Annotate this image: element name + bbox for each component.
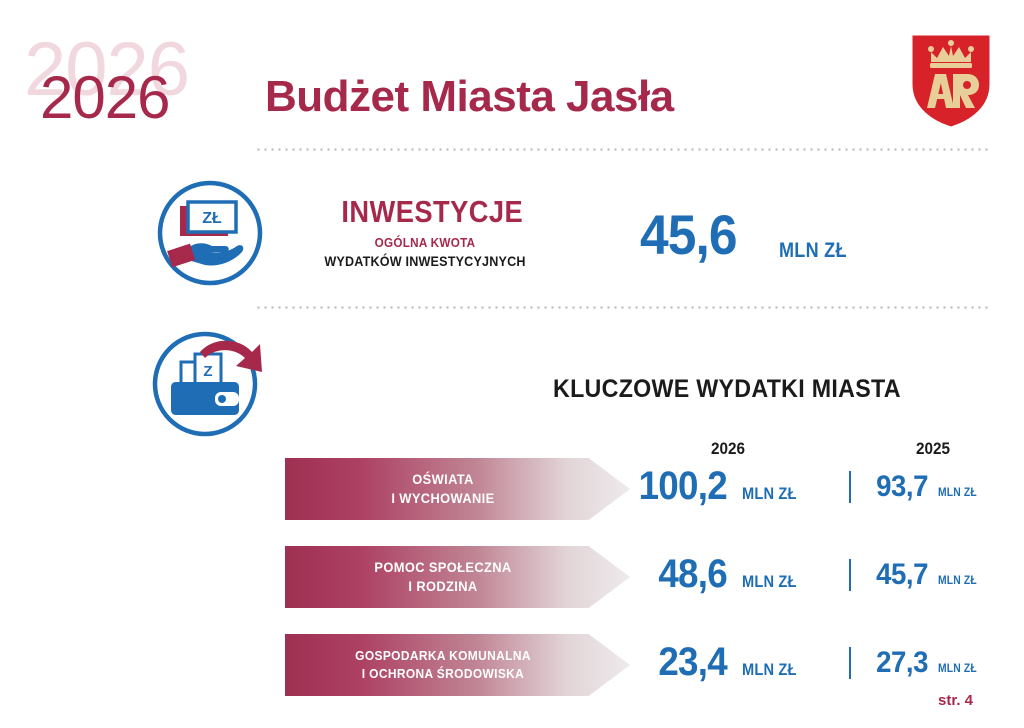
column-header-current-year: 2026 [711,440,745,457]
header-year: 2026 [40,68,169,128]
investments-heading: INWESTYCJE [341,196,508,227]
expense-category-label-line1: OŚWIATA [412,471,473,487]
key-expenses-heading: KLUCZOWE WYDATKI MIASTA [553,377,901,402]
divider-top [255,148,990,151]
expense-category-label: POMOC SPOŁECZNA I RODZINA [305,558,581,596]
expense-category-label-line2: I OCHRONA ŚRODOWISKA [361,666,523,681]
expense-value-current: 23,4 [607,642,727,682]
expense-unit-previous: MLN ZŁ [938,662,977,674]
svg-text:ZŁ: ZŁ [202,210,222,227]
hand-holding-banknote-icon: ZŁ [155,178,265,288]
investments-amount-unit: MLN ZŁ [779,240,847,261]
investments-subtitle-line2: WYDATKÓW INWESTYCYJNYCH [323,253,526,269]
expense-category-banner: POMOC SPOŁECZNA I RODZINA [285,546,630,608]
wallet-with-arrow-icon: Z [148,322,273,442]
jaslo-coat-of-arms-icon [905,28,997,132]
expense-category-label-line1: POMOC SPOŁECZNA [374,559,511,575]
expense-value-previous: 93,7 [836,472,928,502]
svg-text:Z: Z [203,363,212,380]
page-number: str. 4 [938,693,973,708]
expense-value-current: 48,6 [607,554,727,594]
expense-value-current: 100,2 [607,466,727,506]
expense-category-label-line2: I RODZINA [408,578,477,594]
expense-unit-current: MLN ZŁ [742,485,797,502]
expense-category-label-line2: I WYCHOWANIE [391,490,494,506]
expense-unit-current: MLN ZŁ [742,661,797,678]
column-header-previous-year: 2025 [916,440,950,457]
expense-unit-current: MLN ZŁ [742,573,797,590]
investments-amount: 45,6 [640,207,737,263]
expense-category-label: OŚWIATA I WYCHOWANIE [305,470,581,508]
expense-value-previous: 45,7 [836,560,928,590]
page-title: Budżet Miasta Jasła [265,74,674,120]
expense-category-banner: OŚWIATA I WYCHOWANIE [285,458,630,520]
expense-unit-previous: MLN ZŁ [938,574,977,586]
divider-middle [255,306,990,309]
expense-category-banner: GOSPODARKA KOMUNALNA I OCHRONA ŚRODOWISK… [285,634,630,696]
expense-category-label: GOSPODARKA KOMUNALNA I OCHRONA ŚRODOWISK… [305,647,581,682]
investments-subtitle-line1: OGÓLNA KWOTA [340,236,511,251]
expense-row: POMOC SPOŁECZNA I RODZINA 48,6 MLN ZŁ 45… [0,546,1024,608]
expense-category-label-line1: GOSPODARKA KOMUNALNA [355,648,531,663]
expense-row: GOSPODARKA KOMUNALNA I OCHRONA ŚRODOWISK… [0,634,1024,696]
expense-row: OŚWIATA I WYCHOWANIE 100,2 MLN ZŁ 93,7 M… [0,458,1024,520]
expense-value-previous: 27,3 [836,648,928,678]
expense-unit-previous: MLN ZŁ [938,486,977,498]
